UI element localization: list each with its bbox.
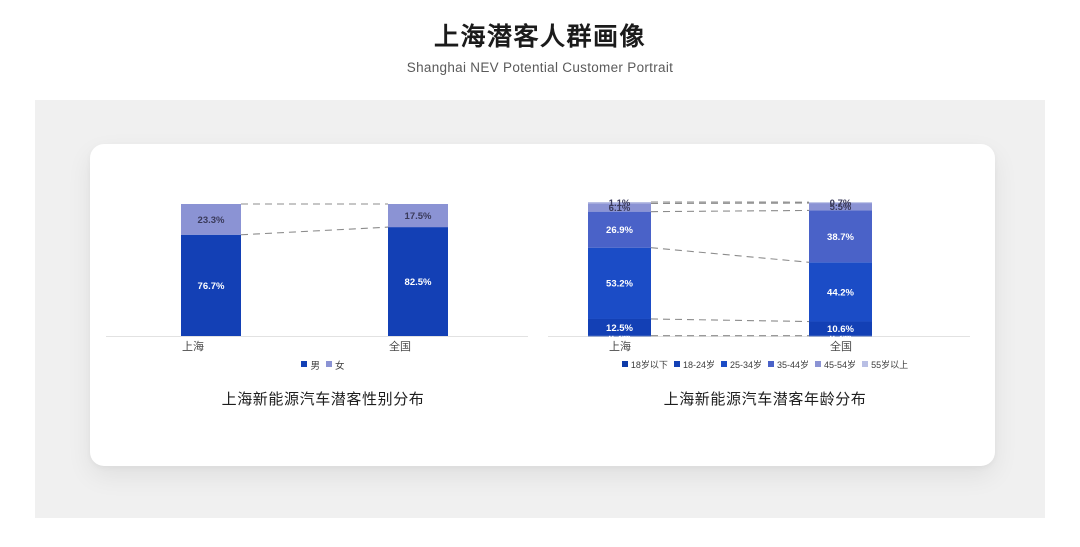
- legend-swatch-icon: [674, 361, 680, 367]
- bar-segment-value: 1.1%: [609, 198, 631, 209]
- content-card: 76.7%23.3%82.5%17.5% 上海 全国 男 女 上海新能源汽车潜客…: [90, 144, 995, 466]
- legend-label: 男: [310, 361, 320, 372]
- bar-segment-value: 53.2%: [606, 279, 633, 290]
- legend-swatch-icon: [622, 361, 628, 367]
- legend-label: 45-54岁: [824, 360, 856, 370]
- bar-segment-value: 82.5%: [405, 277, 432, 288]
- bar-segment-value: 76.7%: [198, 281, 225, 292]
- chart-gender-caption: 上海新能源汽车潜客性别分布: [103, 388, 543, 409]
- legend-item-female[interactable]: 女: [326, 358, 345, 372]
- legend-label: 55岁以上: [871, 360, 908, 370]
- legend-item-age-5[interactable]: 55岁以上: [862, 358, 908, 371]
- chart-gender-axis-labels: 上海 全国: [103, 340, 543, 358]
- legend-item-male[interactable]: 男: [301, 358, 320, 372]
- bar-segment-value: 44.2%: [827, 287, 854, 298]
- chart-age: 0.2%12.5%53.2%26.9%6.1%1.1%0.2%10.6%44.2…: [545, 144, 985, 466]
- page-subtitle: Shanghai NEV Potential Customer Portrait: [0, 59, 1080, 76]
- chart-age-caption: 上海新能源汽车潜客年龄分布: [545, 388, 985, 409]
- legend-label: 25-34岁: [730, 360, 762, 370]
- legend-swatch-icon: [721, 361, 727, 367]
- chart-age-axis-labels: 上海 全国: [545, 340, 985, 358]
- bar-segment-value: 26.9%: [606, 225, 633, 236]
- bar-segment-value: 0.7%: [830, 198, 852, 209]
- axis-label-category-0: 上海: [153, 340, 233, 354]
- page-title: 上海潜客人群画像: [0, 22, 1080, 52]
- bar-segment-value: 17.5%: [405, 211, 432, 222]
- legend-label: 女: [335, 361, 345, 372]
- legend-swatch-icon: [768, 361, 774, 367]
- axis-label-category-0: 上海: [580, 340, 660, 354]
- legend-swatch-icon: [301, 361, 307, 367]
- legend-item-age-4[interactable]: 45-54岁: [815, 358, 856, 371]
- legend-item-age-2[interactable]: 25-34岁: [721, 358, 762, 371]
- legend-item-age-0[interactable]: 18岁以下: [622, 358, 668, 371]
- axis-label-category-1: 全国: [801, 340, 881, 354]
- legend-swatch-icon: [326, 361, 332, 367]
- legend-swatch-icon: [862, 361, 868, 367]
- bar-segment-value: 38.7%: [827, 232, 854, 243]
- chart-age-legend: 18岁以下18-24岁25-34岁35-44岁45-54岁55岁以上: [545, 358, 985, 371]
- page-header: 上海潜客人群画像 Shanghai NEV Potential Customer…: [0, 22, 1080, 76]
- chart-gender-legend: 男 女: [103, 358, 543, 372]
- bar-segment-value: 23.3%: [198, 215, 225, 226]
- legend-swatch-icon: [815, 361, 821, 367]
- legend-item-age-1[interactable]: 18-24岁: [674, 358, 715, 371]
- bar-segment-value: 10.6%: [827, 324, 854, 335]
- legend-label: 18岁以下: [631, 360, 668, 370]
- chart-gender: 76.7%23.3%82.5%17.5% 上海 全国 男 女 上海新能源汽车潜客…: [103, 144, 543, 466]
- axis-label-category-1: 全国: [360, 340, 440, 354]
- page-root: 上海潜客人群画像 Shanghai NEV Potential Customer…: [0, 0, 1080, 547]
- bar-segment-value: 12.5%: [606, 323, 633, 334]
- legend-item-age-3[interactable]: 35-44岁: [768, 358, 809, 371]
- legend-label: 18-24岁: [683, 360, 715, 370]
- legend-label: 35-44岁: [777, 360, 809, 370]
